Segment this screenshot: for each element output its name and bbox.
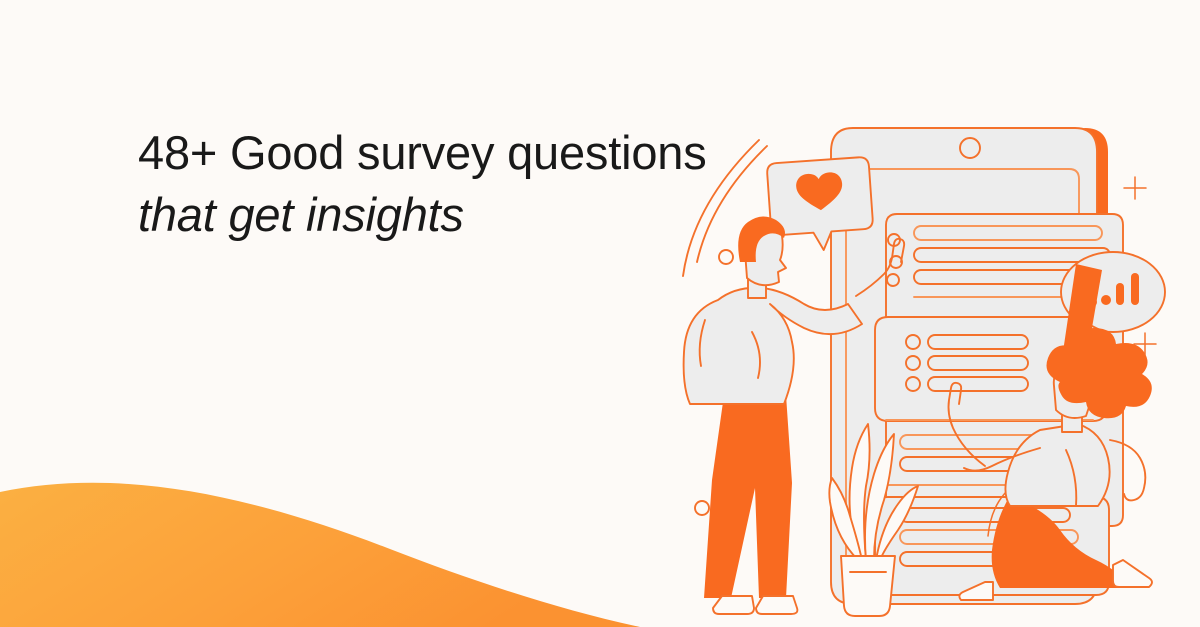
woman-neck [1062, 410, 1082, 432]
woman-pants-fold [988, 480, 1022, 536]
man-neck [748, 272, 766, 298]
man-sleeve-fold [700, 320, 705, 366]
text-pill [914, 270, 1080, 284]
plant-leaf [876, 486, 918, 560]
woman-hand-pointing [949, 383, 986, 466]
woman-shirt-fold [1066, 450, 1076, 506]
chart-bar [1131, 273, 1139, 305]
answer-bars [900, 508, 1078, 566]
woman-raised-arm [1060, 264, 1102, 374]
radio-options-card [875, 317, 1106, 421]
sparkle-upper-right [1124, 177, 1146, 199]
chart-dot [1101, 295, 1111, 305]
survey-illustration: .ln { fill:none; stroke:#F4712B; stroke-… [660, 0, 1200, 627]
circle-dot-left [719, 250, 733, 264]
man-head [744, 220, 786, 285]
plant-pot [841, 556, 895, 616]
radio-button [906, 356, 920, 370]
man-hair [738, 216, 785, 262]
circle-dot-lower-left [695, 501, 709, 515]
text-pill-group-top [914, 226, 1110, 297]
chart-bubble-shape [1061, 252, 1165, 332]
woman-hair [1047, 328, 1152, 418]
text-pill [914, 226, 1102, 240]
radio-button [906, 335, 920, 349]
woman-arm-lower [964, 448, 1040, 471]
text-pill [900, 457, 1096, 471]
text-pill-group-mid [886, 435, 1100, 485]
text-pill [900, 435, 1088, 449]
man-shirt-fold [752, 332, 760, 378]
tablet-frame [831, 128, 1097, 604]
woman-shoe-back [959, 582, 993, 600]
bottom-left-wave [0, 447, 700, 627]
man-pants [704, 395, 792, 598]
wave-shape [0, 483, 640, 627]
chart-bubble [1061, 252, 1165, 345]
option-bar [928, 377, 1028, 391]
woman-arm-upper [1110, 440, 1145, 500]
heart-bubble [767, 157, 875, 254]
woman-pants [992, 496, 1130, 588]
man-knuckle [890, 256, 902, 268]
answer-bar [900, 530, 1078, 544]
option-bar [928, 335, 1028, 349]
answer-bar [900, 508, 1070, 522]
man-shoe-right [756, 596, 797, 614]
chart-bubble-tail [1086, 325, 1106, 345]
headline-line-2: that get insights [138, 184, 738, 246]
chart-bar [1116, 283, 1124, 305]
answer-bar [900, 552, 1050, 566]
sparkle-lower-right [1134, 333, 1156, 355]
chart-dot [1087, 297, 1097, 307]
headline-line-1: 48+ Good survey questions [138, 122, 738, 184]
tablet-edge-accent [1074, 128, 1108, 302]
plant-leaf [865, 434, 894, 560]
text-pill [914, 248, 1110, 262]
banner-canvas: 48+ Good survey questions that get insig… [0, 0, 1200, 627]
camera-dot [960, 138, 980, 158]
radio-button [906, 377, 920, 391]
man-body [684, 288, 862, 404]
man-shoe-left [713, 596, 754, 614]
woman-head [1054, 366, 1095, 418]
tablet-screen [846, 169, 1079, 569]
man-knuckle [887, 274, 899, 286]
woman-body [1005, 424, 1109, 506]
man-arm-pointing [856, 239, 904, 296]
text-lines-card [886, 214, 1123, 526]
heart-icon [795, 172, 843, 212]
heart-bubble-shape [767, 157, 875, 254]
woman-shoe [1113, 560, 1152, 587]
potted-plant [829, 424, 918, 616]
plant-leaf [850, 424, 870, 560]
option-bar [928, 356, 1028, 370]
page-title: 48+ Good survey questions that get insig… [138, 122, 738, 246]
answer-bars-card [875, 497, 1109, 595]
plant-leaf [829, 478, 862, 560]
man-finger-tip [888, 234, 900, 246]
radio-option-rows [906, 335, 1028, 391]
